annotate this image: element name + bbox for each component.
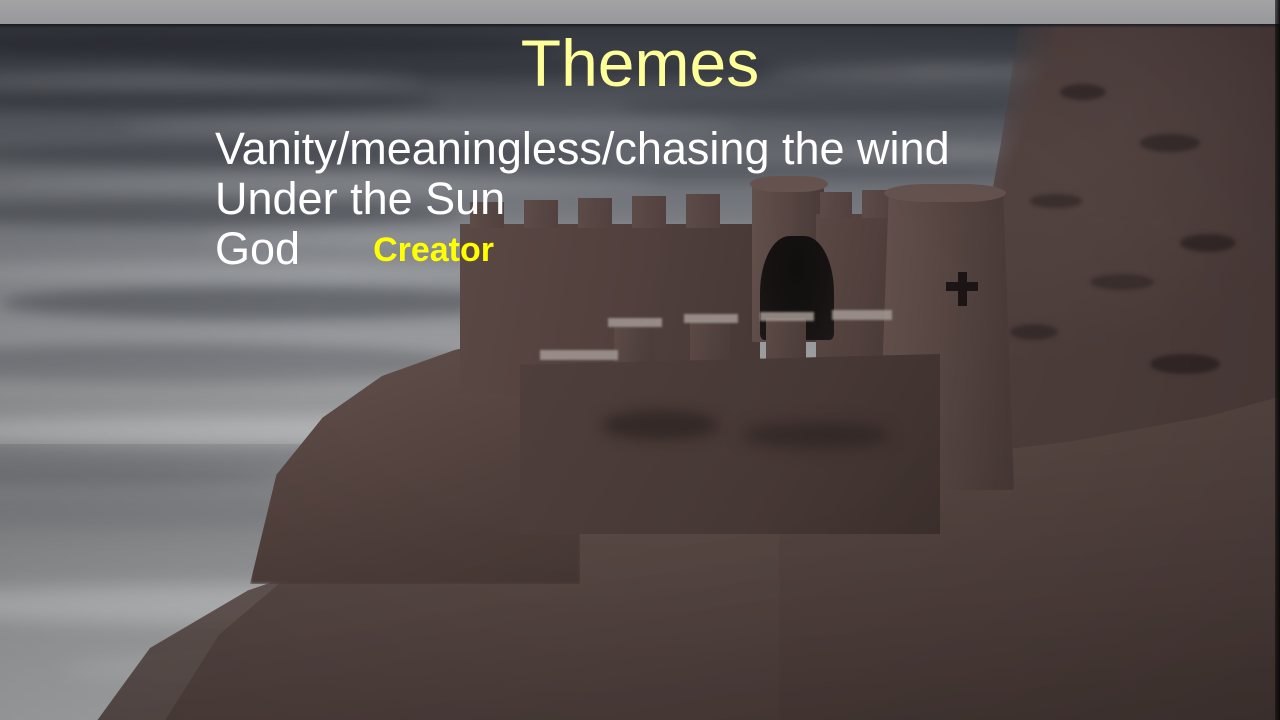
body-line-3-text: God xyxy=(215,223,300,274)
body-line-1-text: Vanity/meaningless/chasing the wind xyxy=(215,123,950,174)
right-edge-border xyxy=(1275,0,1280,720)
body-line-2: Under the Sun xyxy=(215,174,1215,224)
slide-body: Vanity/meaningless/chasing the wind Unde… xyxy=(215,124,1215,274)
body-line-2-text: Under the Sun xyxy=(215,173,505,224)
body-line-3-accent: Creator xyxy=(373,225,494,275)
page-title: Themes xyxy=(0,30,1280,96)
presentation-slide: Themes Vanity/meaningless/chasing the wi… xyxy=(0,0,1280,720)
top-band-shadow xyxy=(0,24,1280,28)
top-chrome-band xyxy=(0,0,1280,24)
slide-text-layer: Themes Vanity/meaningless/chasing the wi… xyxy=(0,0,1280,720)
body-line-1: Vanity/meaningless/chasing the wind xyxy=(215,124,1215,174)
body-line-3: GodCreator xyxy=(215,224,1215,274)
